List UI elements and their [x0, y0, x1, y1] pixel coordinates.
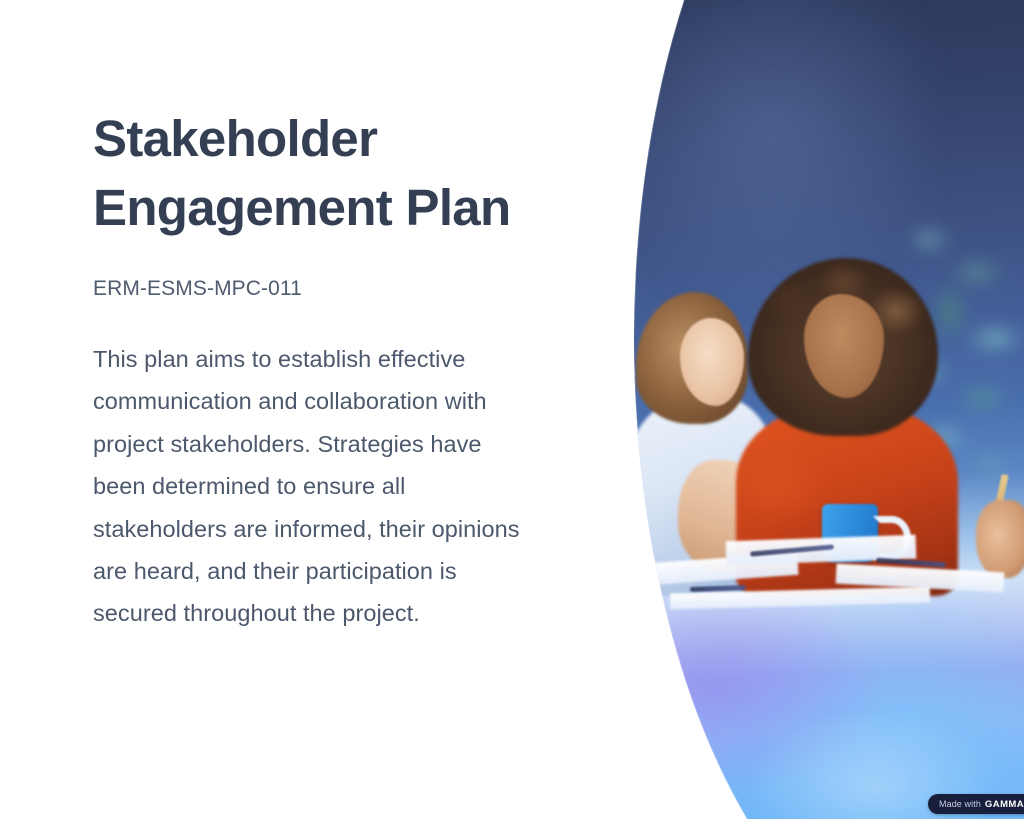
- hero-image-panel: [630, 0, 1024, 819]
- badge-made-with-label: Made with: [939, 799, 981, 809]
- slide-canvas: Stakeholder Engagement Plan ERM-ESMS-MPC…: [0, 0, 1024, 819]
- body-paragraph: This plan aims to establish effective co…: [93, 338, 533, 635]
- page-title: Stakeholder Engagement Plan: [93, 104, 563, 242]
- text-column: Stakeholder Engagement Plan ERM-ESMS-MPC…: [93, 0, 563, 819]
- badge-brand-label: GAMMA: [985, 799, 1024, 810]
- document-code: ERM-ESMS-MPC-011: [93, 274, 563, 304]
- made-with-gamma-badge[interactable]: Made with GAMMA: [928, 794, 1024, 814]
- meeting-photo: [630, 0, 1024, 819]
